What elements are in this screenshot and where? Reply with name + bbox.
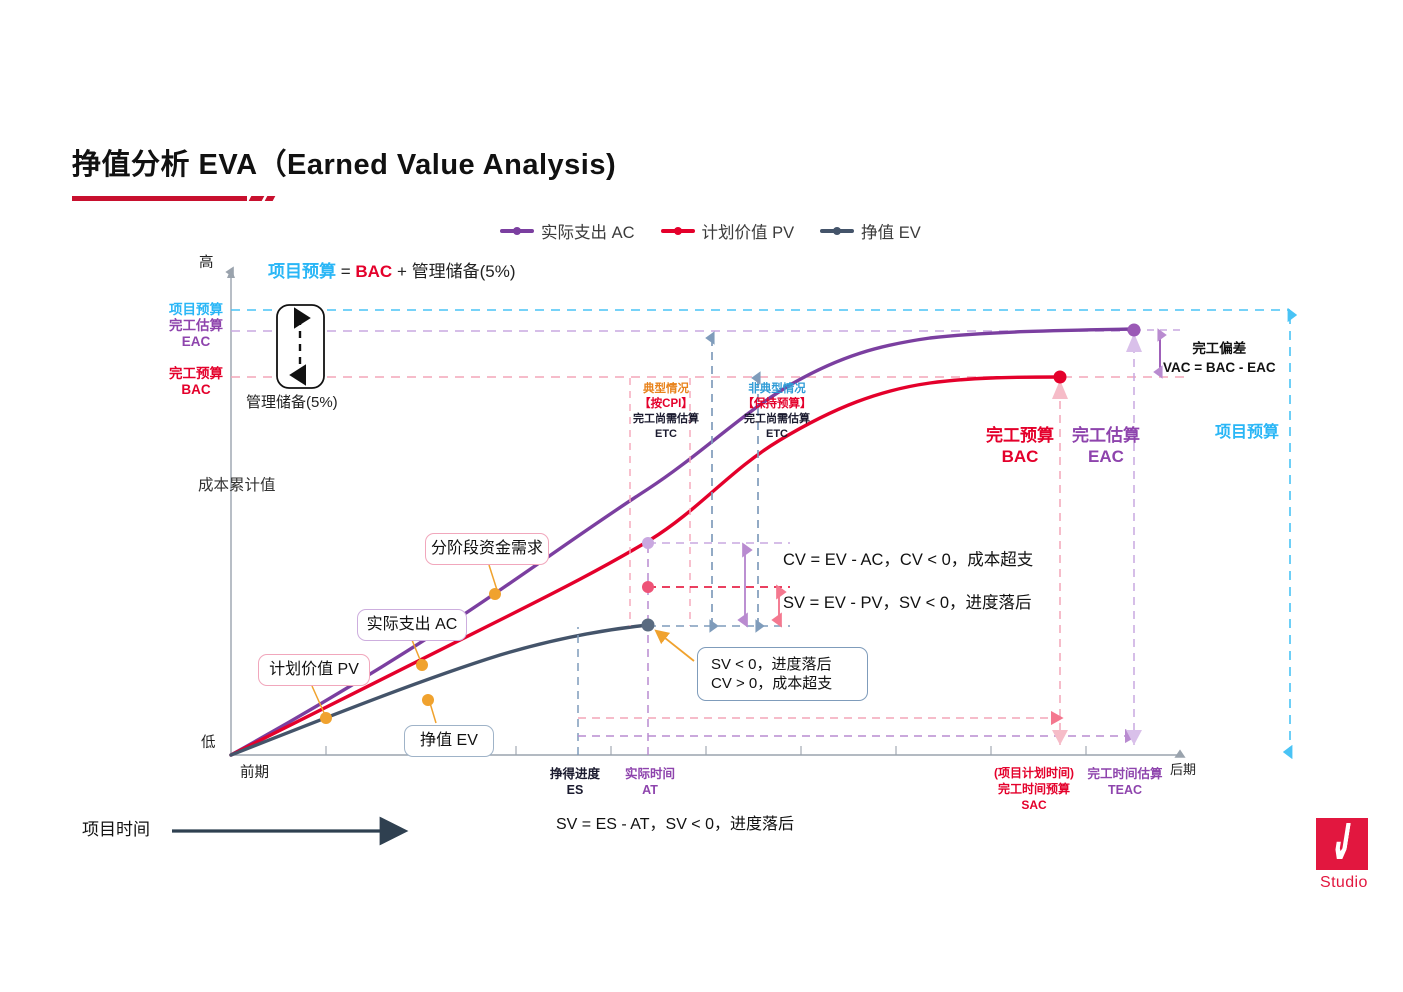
- x-marker-at: 实际时间 AT: [615, 766, 685, 799]
- x-marker-sac-line1: (项目计划时间): [978, 766, 1090, 782]
- x-marker-teac-line1: 完工时间估算: [1086, 766, 1164, 782]
- x-marker-sac: (项目计划时间) 完工时间预算 SAC: [978, 766, 1090, 813]
- x-marker-sac-line3: SAC: [978, 798, 1090, 814]
- x-marker-es-line1: 挣得进度: [540, 766, 610, 782]
- callout-status-arrow: [660, 634, 694, 661]
- project-time-label: 项目时间: [82, 820, 150, 840]
- callout-stage-funding[interactable]: 分阶段资金需求: [425, 533, 549, 565]
- marker-eac: [1128, 324, 1141, 337]
- budget-label-bac-line1: 完工预算: [160, 366, 232, 382]
- marker-stage-funding: [489, 588, 501, 600]
- management-reserve-caption: 管理储备(5%): [246, 394, 338, 412]
- callout-ac-label: 实际支出 AC: [367, 615, 458, 636]
- etc-atypical-block: 非典型情况 【保持预算】 完工尚需估算 ETC: [724, 382, 830, 441]
- callout-ac[interactable]: 实际支出 AC: [357, 609, 467, 641]
- etc-typical-block: 典型情况 【按CPI】 完工尚需估算 ETC: [613, 382, 719, 441]
- x-marker-at-line2: AT: [615, 782, 685, 798]
- sv-equation: SV = EV - PV，SV < 0，进度落后: [783, 594, 1032, 613]
- etc-typical-line4: ETC: [613, 427, 719, 442]
- etc-typical-line2: 【按CPI】: [613, 397, 719, 412]
- equation-equals: =: [336, 262, 355, 281]
- budget-label-eac-line1: 完工估算: [160, 318, 232, 334]
- callout-stage-funding-label: 分阶段资金需求: [431, 539, 543, 560]
- logo-text: Studio: [1320, 874, 1368, 892]
- etc-typical-line1: 典型情况: [613, 382, 719, 397]
- etc-atypical-line3: 完工尚需估算: [724, 412, 830, 427]
- x-marker-teac: 完工时间估算 TEAC: [1086, 766, 1164, 799]
- marker-ac-callout: [416, 659, 428, 671]
- callout-variance-status[interactable]: SV < 0，进度落后 CV > 0，成本超支: [697, 647, 868, 701]
- marker-ac-at-es: [642, 537, 654, 549]
- callout-ev-label: 挣值 EV: [420, 731, 478, 752]
- x-axis-late-label: 后期: [1170, 762, 1196, 777]
- right-label-project-budget: 项目预算: [1215, 424, 1279, 443]
- callout-variance-line2: CV > 0，成本超支: [711, 674, 832, 694]
- etc-atypical-line4: ETC: [724, 427, 830, 442]
- right-label-bac-line1: 完工预算: [980, 425, 1060, 446]
- marker-pv-callout: [320, 712, 332, 724]
- equation-project-budget-term: 项目预算: [268, 262, 336, 281]
- vac-line1: 完工偏差: [1163, 340, 1276, 359]
- marker-bac: [1054, 371, 1067, 384]
- y-axis-low-label: 低: [201, 735, 216, 752]
- budget-label-bac: 完工预算 BAC: [160, 366, 232, 398]
- sv-time-equation: SV = ES - AT，SV < 0，进度落后: [556, 816, 794, 835]
- equation-reserve-term: + 管理储备(5%): [392, 262, 515, 281]
- etc-atypical-line1: 非典型情况: [724, 382, 830, 397]
- project-budget-equation: 项目预算 = BAC + 管理储备(5%): [268, 262, 516, 282]
- cv-equation: CV = EV - AC，CV < 0，成本超支: [783, 551, 1033, 570]
- x-marker-at-line1: 实际时间: [615, 766, 685, 782]
- x-marker-es: 挣得进度 ES: [540, 766, 610, 799]
- cv-sv-bracket-arrows: [648, 543, 790, 626]
- right-label-bac: 完工预算 BAC: [980, 425, 1060, 468]
- y-axis-high-label: 高: [199, 255, 214, 272]
- callout-variance-line1: SV < 0，进度落后: [711, 655, 831, 675]
- callout-ev[interactable]: 挣值 EV: [404, 725, 494, 757]
- right-label-eac-line2: EAC: [1066, 446, 1146, 467]
- vac-annotation: 完工偏差 VAC = BAC - EAC: [1163, 340, 1276, 378]
- budget-label-project-budget: 项目预算: [160, 302, 232, 318]
- budget-label-eac-line2: EAC: [160, 334, 232, 350]
- callout-pv-label: 计划价值 PV: [269, 660, 359, 681]
- right-label-eac: 完工估算 EAC: [1066, 425, 1146, 468]
- callout-pv[interactable]: 计划价值 PV: [258, 654, 370, 686]
- marker-ev-endpoint: [642, 619, 655, 632]
- budget-label-eac: 完工估算 EAC: [160, 318, 232, 350]
- logo-square-icon: [1316, 818, 1368, 870]
- equation-bac-term: BAC: [355, 262, 392, 281]
- management-reserve-box: [277, 305, 324, 388]
- right-label-eac-line1: 完工估算: [1066, 425, 1146, 446]
- right-label-bac-line2: BAC: [980, 446, 1060, 467]
- time-span-arrows: [578, 718, 1142, 745]
- marker-pv-at-es: [642, 581, 654, 593]
- vac-line2: VAC = BAC - EAC: [1163, 359, 1276, 378]
- eva-chart-canvas: [0, 0, 1403, 992]
- x-marker-sac-line2: 完工时间预算: [978, 782, 1090, 798]
- marker-ev-callout: [422, 694, 434, 706]
- budget-label-bac-line2: BAC: [160, 382, 232, 398]
- y-axis-title: 成本累计值: [198, 478, 218, 494]
- x-axis-early-label: 前期: [240, 765, 269, 782]
- etc-typical-line3: 完工尚需估算: [613, 412, 719, 427]
- etc-atypical-line2: 【保持预算】: [724, 397, 830, 412]
- x-marker-es-line2: ES: [540, 782, 610, 798]
- x-marker-teac-line2: TEAC: [1086, 782, 1164, 798]
